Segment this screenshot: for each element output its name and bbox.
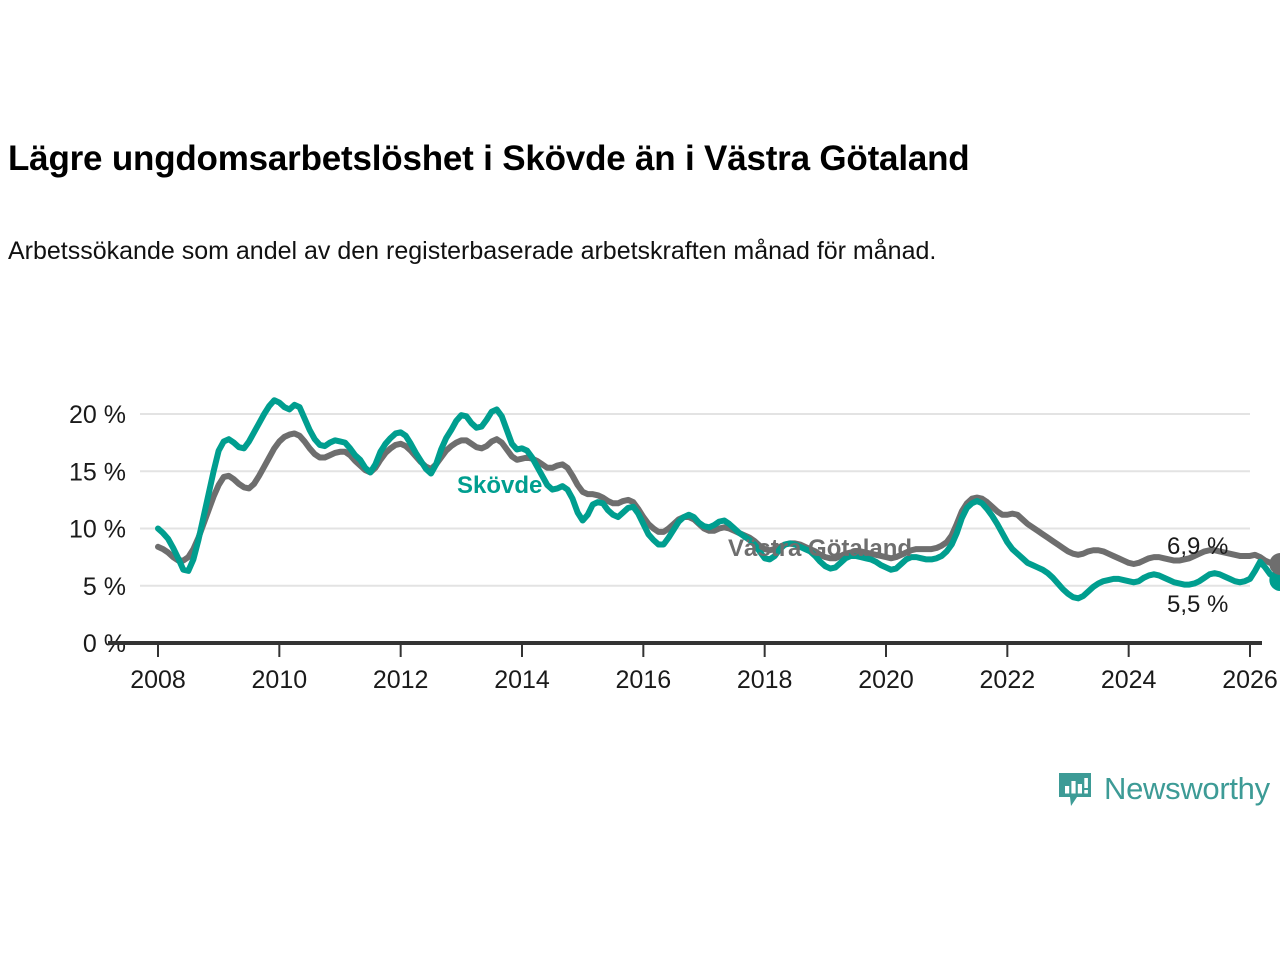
x-axis (108, 643, 1262, 657)
x-tick-label: 2024 (1101, 666, 1157, 694)
x-tick-label: 2026 (1222, 666, 1278, 694)
line-chart-svg: 0 %5 %10 %15 %20 % 200820102012201420162… (0, 0, 1280, 960)
x-tick-label: 2020 (858, 666, 914, 694)
series-line (158, 400, 1280, 598)
y-tick-label: 5 % (83, 573, 126, 601)
end-value-skovde: 5,5 % (1167, 591, 1228, 618)
x-tick-label: 2016 (616, 666, 672, 694)
x-tick-label: 2012 (373, 666, 429, 694)
chart-plot-area: 0 %5 %10 %15 %20 % 200820102012201420162… (0, 0, 1280, 960)
end-value-vastra-gotaland: 6,9 % (1167, 533, 1228, 560)
brand-wordmark: Newsworthy (1104, 771, 1270, 807)
series-label-skovde: Skövde (457, 472, 542, 499)
x-axis-tick-labels: 2008201020122014201620182020202220242026 (130, 666, 1278, 694)
chart-page: Lägre ungdomsarbetslöshet i Skövde än i … (0, 0, 1280, 960)
y-tick-label: 10 % (69, 516, 126, 544)
y-tick-label: 20 % (69, 401, 126, 429)
x-tick-label: 2018 (737, 666, 793, 694)
x-tick-label: 2022 (980, 666, 1036, 694)
x-tick-label: 2010 (252, 666, 308, 694)
x-tick-label: 2008 (130, 666, 186, 694)
bar-chart-speech-bubble-icon (1056, 770, 1094, 808)
series-lines (158, 400, 1280, 598)
x-tick-label: 2014 (494, 666, 550, 694)
y-axis-tick-labels: 0 %5 %10 %15 %20 % (69, 401, 126, 658)
series-label-vastra-gotaland: Västra Götaland (728, 535, 912, 562)
newsworthy-logo: Newsworthy (1056, 770, 1270, 808)
series-line (158, 433, 1280, 564)
y-tick-label: 15 % (69, 458, 126, 486)
